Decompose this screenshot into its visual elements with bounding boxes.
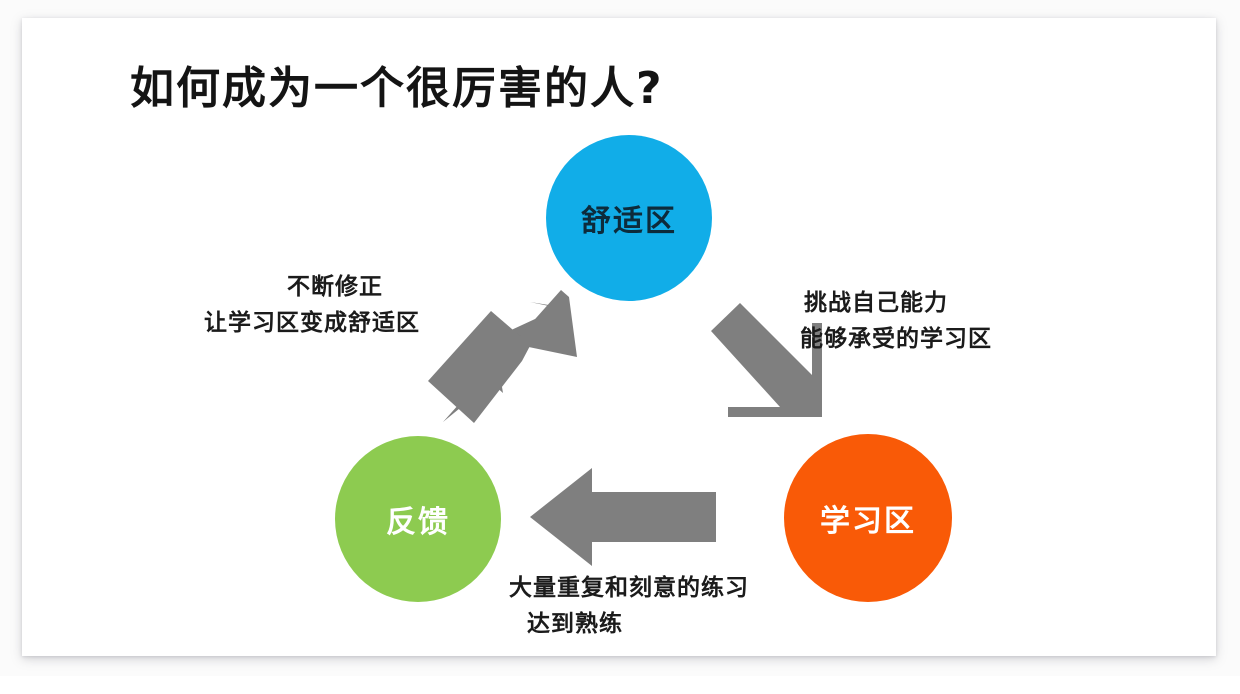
node-learning-zone[interactable]: 学习区 [784,434,952,602]
caption-feedback-to-comfort-line2: 让学习区变成舒适区 [204,306,420,342]
caption-comfort-to-learning-line1: 挑战自己能力 [800,286,992,322]
caption-feedback-to-comfort: 不断修正 让学习区变成舒适区 [204,270,420,341]
node-feedback[interactable]: 反馈 [335,436,501,602]
caption-learning-to-feedback-line1: 大量重复和刻意的练习 [509,571,749,607]
caption-comfort-to-learning: 挑战自己能力 能够承受的学习区 [800,286,992,357]
node-learning-zone-label: 学习区 [820,496,916,540]
caption-learning-to-feedback-line2: 达到熟练 [509,607,749,643]
slide-card: 如何成为一个很厉害的人? 舒 [22,18,1216,656]
caption-comfort-to-learning-line2: 能够承受的学习区 [800,322,992,358]
node-feedback-label: 反馈 [386,497,450,541]
arrow-up-right-icon [428,290,577,423]
caption-learning-to-feedback: 大量重复和刻意的练习 达到熟练 [509,571,749,642]
page-title: 如何成为一个很厉害的人? [130,64,664,115]
caption-feedback-to-comfort-line1: 不断修正 [204,270,420,306]
node-comfort-zone-label: 舒适区 [581,196,677,240]
slide-root: 如何成为一个很厉害的人? 舒 [0,0,1240,676]
arrow-left-icon [530,468,716,566]
node-comfort-zone[interactable]: 舒适区 [546,135,712,301]
